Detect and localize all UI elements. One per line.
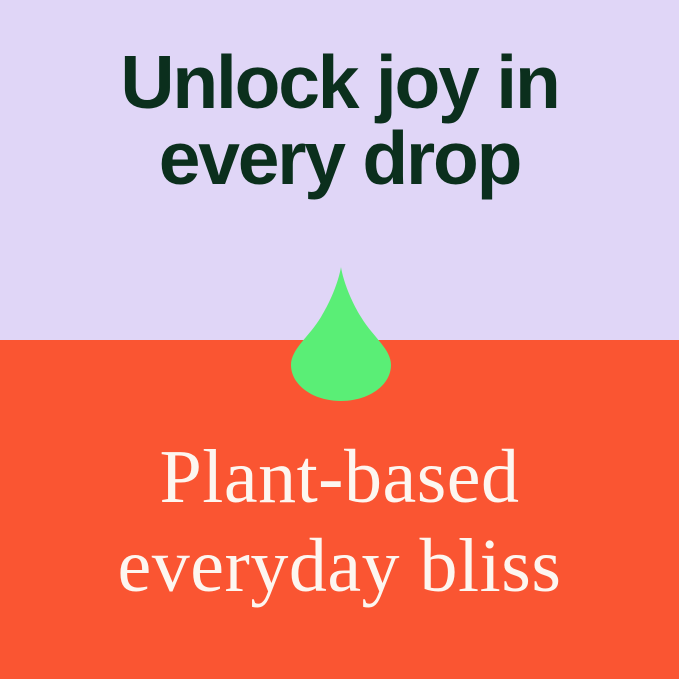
subhead-line-2: everyday bliss xyxy=(0,522,679,611)
water-drop-icon-glyph xyxy=(291,267,391,401)
headline: Unlock joy in every drop xyxy=(0,46,679,195)
headline-line-2: every drop xyxy=(0,122,679,196)
headline-line-1: Unlock joy in xyxy=(0,46,679,120)
promo-poster: Unlock joy in every drop Plant-based eve… xyxy=(0,0,679,679)
water-drop-icon xyxy=(291,267,391,401)
subhead: Plant-based everyday bliss xyxy=(0,433,679,611)
subhead-line-1: Plant-based xyxy=(0,433,679,522)
